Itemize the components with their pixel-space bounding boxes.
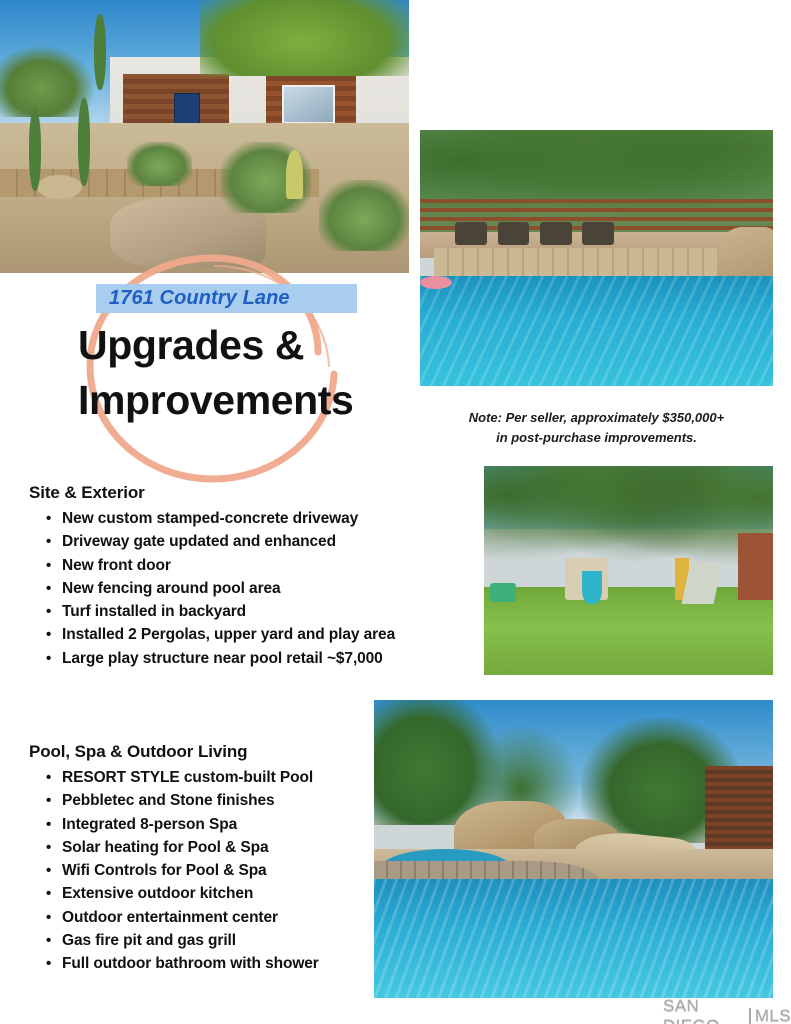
teal-slide <box>582 571 602 604</box>
column-cactus-3 <box>94 14 106 90</box>
seller-note-line-1: Note: Per seller, approximately $350,000… <box>420 408 773 428</box>
list-item: New custom stamped-concrete driveway <box>29 507 459 530</box>
headline-line-2: Improvements <box>78 373 408 428</box>
list-item: RESORT STYLE custom-built Pool <box>29 766 389 789</box>
address-text: 1761 Country Lane <box>96 287 290 310</box>
seller-note-line-2: in post-purchase improvements. <box>420 428 773 448</box>
yellow-cactus <box>286 150 302 199</box>
palm-canopy <box>484 466 773 596</box>
house-window <box>282 85 335 124</box>
watermark-text-right: MLS <box>755 1006 791 1024</box>
list-item: Turf installed in backyard <box>29 600 459 623</box>
list-item: Driveway gate updated and enhanced <box>29 530 459 553</box>
list-item: New fencing around pool area <box>29 577 459 600</box>
agave-3 <box>127 142 192 186</box>
photo-front-exterior <box>0 0 409 273</box>
section-site-exterior: Site & Exterior New custom stamped-concr… <box>29 483 459 670</box>
mls-watermark: SAN DIEGO MLS <box>663 996 791 1024</box>
toy-table <box>490 583 516 602</box>
section-title-site-exterior: Site & Exterior <box>29 483 459 503</box>
section-title-pool-spa: Pool, Spa & Outdoor Living <box>29 742 389 762</box>
turf-lawn <box>484 587 773 675</box>
list-item: Large play structure near pool retail ~$… <box>29 647 459 670</box>
list-item: Full outdoor bathroom with shower <box>29 952 389 975</box>
pool-float <box>420 276 452 289</box>
watermark-text-left: SAN DIEGO <box>663 996 745 1024</box>
column-cactus-2 <box>78 98 90 185</box>
lounge-chair-2 <box>498 222 530 245</box>
seller-note: Note: Per seller, approximately $350,000… <box>420 408 773 448</box>
watermark-divider <box>749 1008 751 1024</box>
photo-pool-spa-waterfall <box>374 700 773 998</box>
pool-water <box>420 276 773 386</box>
list-item: Pebbletec and Stone finishes <box>29 789 389 812</box>
lounge-chair-1 <box>455 222 487 245</box>
list-item: Wifi Controls for Pool & Spa <box>29 859 389 882</box>
column-cactus-1 <box>29 109 41 191</box>
photo-pool-upper-deck <box>420 130 773 386</box>
agave-2 <box>319 180 409 251</box>
headline-line-1: Upgrades & <box>78 322 304 368</box>
address-banner: 1761 Country Lane <box>96 284 357 313</box>
list-item: Integrated 8-person Spa <box>29 813 389 836</box>
lounge-chair-4 <box>582 222 614 245</box>
list-item: Solar heating for Pool & Spa <box>29 836 389 859</box>
list-item: New front door <box>29 554 459 577</box>
shade-tree <box>200 0 409 76</box>
boulder-small <box>37 175 82 200</box>
list-site-exterior: New custom stamped-concrete driveway Dri… <box>29 507 459 670</box>
pool-water <box>374 879 773 998</box>
playhouse <box>738 533 773 600</box>
list-item: Extensive outdoor kitchen <box>29 882 389 905</box>
photo-play-area <box>484 466 773 675</box>
lounge-chair-3 <box>540 222 572 245</box>
list-item: Gas fire pit and gas grill <box>29 929 389 952</box>
section-pool-spa-outdoor-living: Pool, Spa & Outdoor Living RESORT STYLE … <box>29 742 389 976</box>
list-item: Outdoor entertainment center <box>29 906 389 929</box>
flyer-page: 1761 Country Lane Upgrades & Improvement… <box>0 0 791 1024</box>
list-pool-spa-outdoor-living: RESORT STYLE custom-built Pool Pebbletec… <box>29 766 389 976</box>
page-title: Upgrades & Improvements <box>78 318 408 427</box>
list-item: Installed 2 Pergolas, upper yard and pla… <box>29 623 459 646</box>
